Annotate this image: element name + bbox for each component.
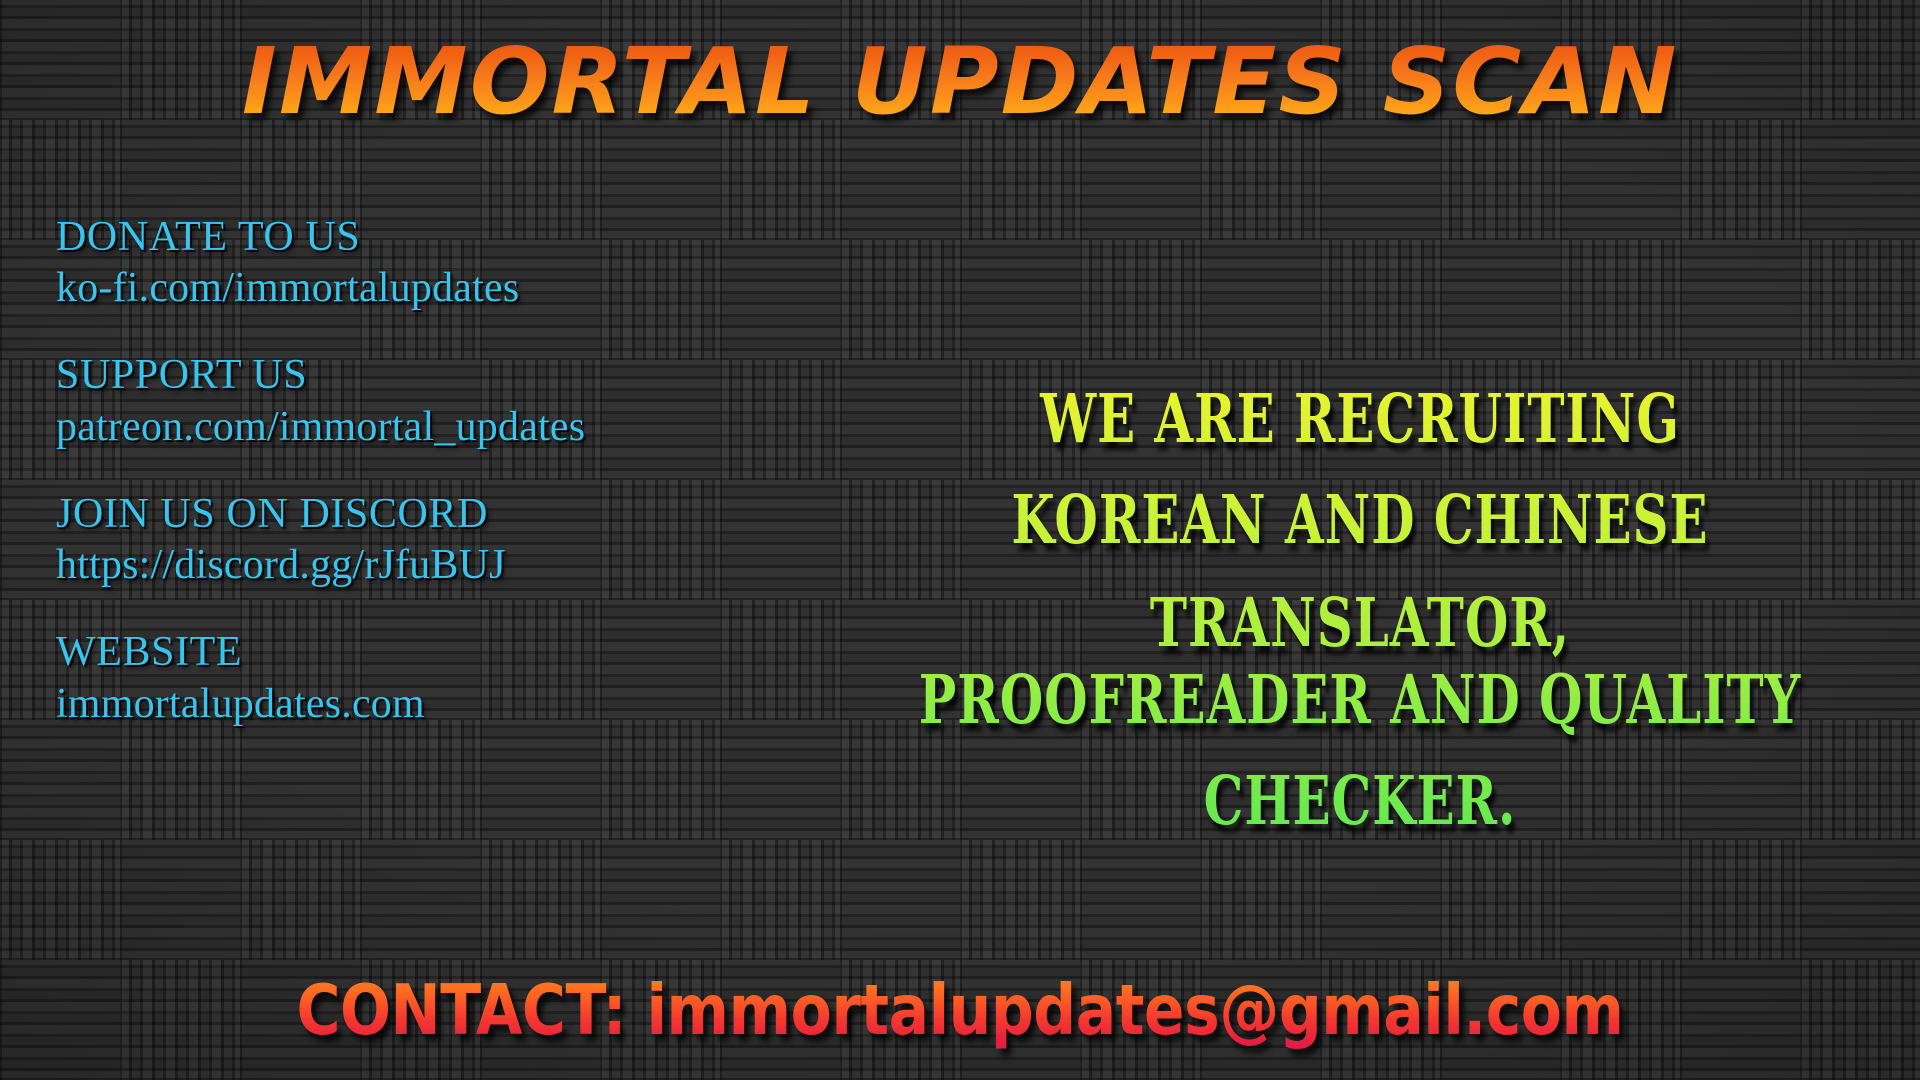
contact-email-text[interactable]: CONTACT: immortalupdates@gmail.com <box>296 970 1623 1051</box>
info-block-support: SUPPORT US patreon.com/immortal_updates <box>56 350 856 452</box>
poster-title: IMMORTAL UPDATES SCAN <box>0 30 1920 133</box>
discord-heading: JOIN US ON DISCORD <box>56 489 856 540</box>
recruiting-line-2: KOREAN AND CHINESE TRANSLATOR, <box>861 469 1859 674</box>
discord-link[interactable]: https://discord.gg/rJfuBUJ <box>56 540 856 591</box>
donate-heading: DONATE TO US <box>56 212 856 263</box>
info-block-discord: JOIN US ON DISCORD https://discord.gg/rJ… <box>56 489 856 591</box>
recruiting-line-1: WE ARE RECRUITING <box>861 368 1859 471</box>
website-heading: WEBSITE <box>56 627 856 678</box>
recruiting-line-4: CHECKER. <box>861 750 1859 853</box>
promo-poster: IMMORTAL UPDATES SCAN DONATE TO US ko-fi… <box>0 0 1920 1080</box>
donate-link[interactable]: ko-fi.com/immortalupdates <box>56 263 856 314</box>
support-heading: SUPPORT US <box>56 350 856 401</box>
recruiting-line-3: PROOFREADER AND QUALITY <box>861 649 1859 752</box>
recruiting-notice: WE ARE RECRUITING KOREAN AND CHINESE TRA… <box>840 368 1880 851</box>
contact-info-list: DONATE TO US ko-fi.com/immortalupdates S… <box>56 212 856 766</box>
website-link[interactable]: immortalupdates.com <box>56 679 856 730</box>
support-link[interactable]: patreon.com/immortal_updates <box>56 402 856 453</box>
info-block-donate: DONATE TO US ko-fi.com/immortalupdates <box>56 212 856 314</box>
info-block-website: WEBSITE immortalupdates.com <box>56 627 856 729</box>
contact-footer: CONTACT: immortalupdates@gmail.com <box>0 976 1920 1046</box>
poster-title-text: IMMORTAL UPDATES SCAN <box>242 30 1679 133</box>
